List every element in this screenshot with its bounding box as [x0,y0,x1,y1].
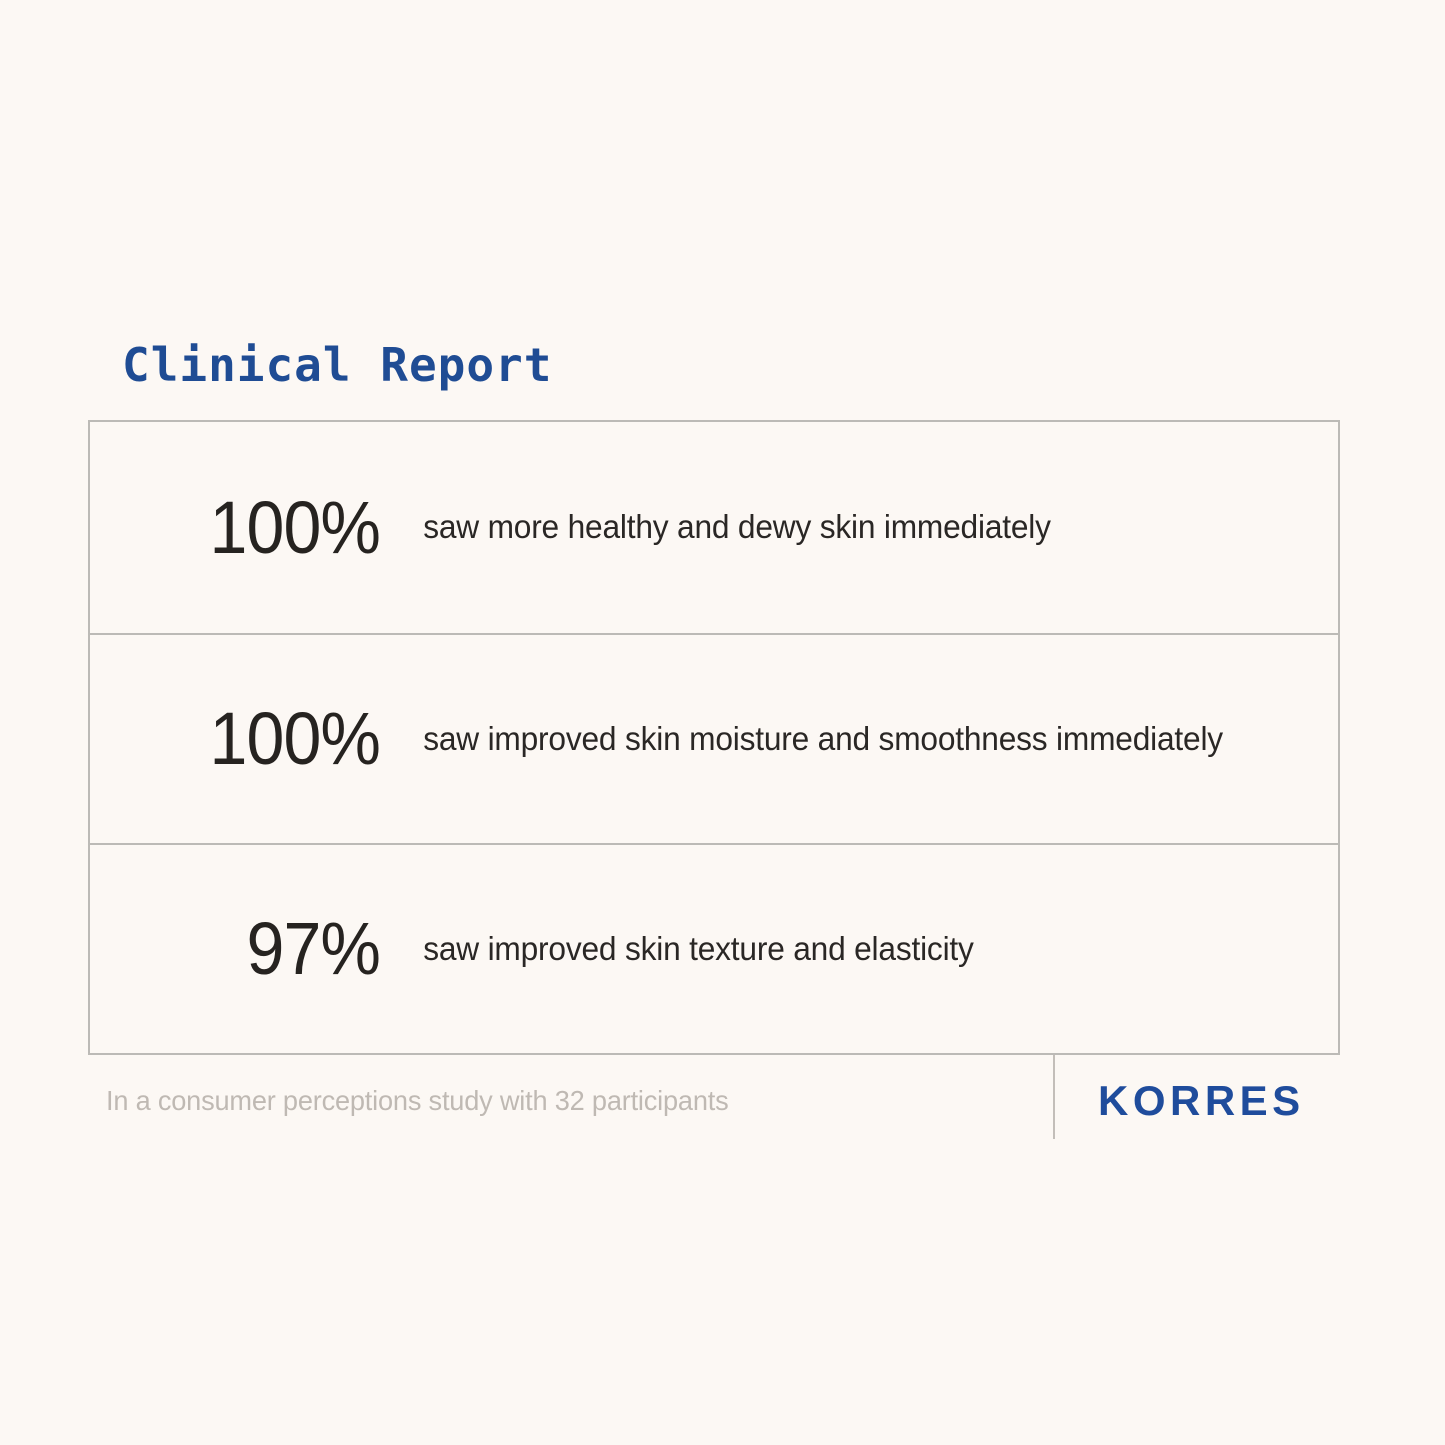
stat-value: 100% [113,491,380,565]
table-row: 100% saw improved skin moisture and smoo… [90,635,1338,845]
page-title: Clinical Report [122,340,552,391]
stat-value: 100% [113,702,380,776]
stat-description: saw improved skin texture and elasticity [380,930,1300,969]
study-footnote: In a consumer perceptions study with 32 … [106,1085,728,1117]
stat-description: saw improved skin moisture and smoothnes… [380,720,1300,759]
brand-logo-korres: KORRES [1098,1077,1305,1125]
footer: In a consumer perceptions study with 32 … [88,1055,1340,1145]
stat-value: 97% [113,912,380,986]
stats-table: 100% saw more healthy and dewy skin imme… [88,420,1340,1055]
table-row: 97% saw improved skin texture and elasti… [90,845,1338,1053]
footer-divider [1053,1055,1055,1139]
table-row: 100% saw more healthy and dewy skin imme… [90,422,1338,635]
stat-description: saw more healthy and dewy skin immediate… [380,508,1300,547]
clinical-report-card: Clinical Report 100% saw more healthy an… [0,0,1445,1445]
